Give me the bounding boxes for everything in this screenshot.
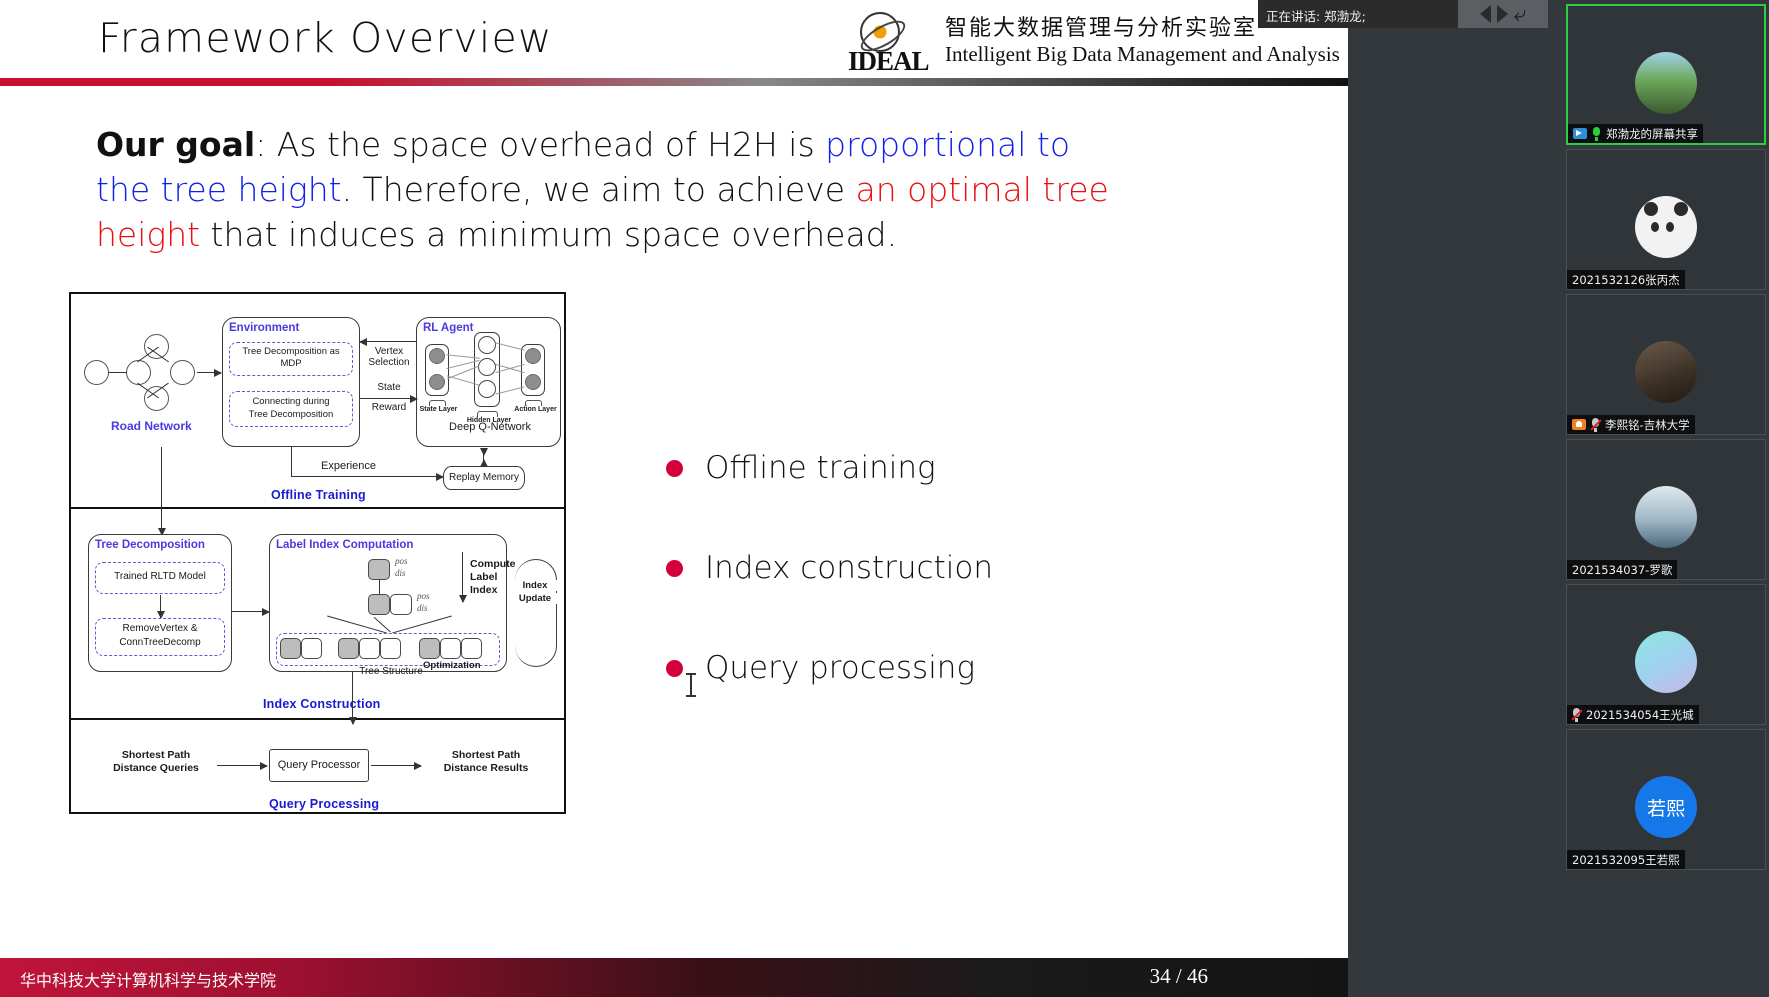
active-speaker-banner: 正在讲话: 郑渤龙; [1258, 0, 1458, 28]
state-layer-label: State Layer [416, 406, 461, 413]
compute-line1: Compute [470, 558, 516, 570]
tree-leaf [461, 638, 482, 659]
tile-name-bar: 李熙铭-吉林大学 [1567, 415, 1695, 434]
zoom-participant-panel: 正在讲话: 郑渤龙; ⤶ 郑渤龙的屏幕共享 2021532126张丙杰 [1348, 0, 1769, 997]
pos-label: pos [417, 591, 430, 601]
vertex-selection-line1: Vertex [362, 346, 416, 357]
text-cursor-icon [690, 673, 692, 697]
goal-lead: Our goal [96, 125, 255, 164]
list-item[interactable]: 2021534054王光城 [1566, 584, 1766, 725]
td-box-remove-line2: ConnTreeDecomp [95, 637, 225, 648]
tree-node [368, 594, 390, 615]
graph-node [126, 360, 151, 385]
bullet-label: Offline training [705, 450, 936, 486]
tree-leaf [280, 638, 301, 659]
rl-agent-title: RL Agent [423, 322, 473, 334]
state-label: State [362, 382, 416, 393]
index-update-loop [515, 559, 557, 667]
section-label-offline-training: Offline Training [271, 488, 366, 502]
page-title: Framework Overview [98, 14, 553, 62]
diagram-divider [71, 718, 564, 720]
footer-page-number: 34 / 46 [1150, 964, 1208, 989]
env-box-mdp-label: Tree Decomposition as MDP [233, 346, 349, 370]
td-box-model-label: Trained RLTD Model [95, 571, 225, 582]
dqn-label: Deep Q-Network [423, 421, 557, 433]
diagram-divider [71, 507, 564, 509]
graph-node [170, 360, 195, 385]
goal-part-3: that induces a minimum space overhead. [200, 215, 897, 254]
section-label-query-processing: Query Processing [269, 797, 379, 811]
avatar [1635, 52, 1697, 114]
participant-name: 2021534054王光城 [1586, 707, 1694, 723]
bullet-list: Offline training Index construction Quer… [666, 418, 993, 718]
tree-leaf [338, 638, 359, 659]
query-input-line2: Distance Queries [101, 762, 211, 774]
reward-label: Reward [362, 402, 416, 413]
index-update-line1: Index [513, 580, 557, 591]
tree-decomposition-title: Tree Decomposition [95, 539, 205, 551]
arrow-road-to-env [197, 372, 221, 373]
arrow-td-feed [161, 447, 162, 535]
bullet-label: Query processing [705, 650, 975, 686]
participant-tiles: 郑渤龙的屏幕共享 2021532126张丙杰 李熙铭-吉林大学 [1566, 4, 1766, 874]
microphone-muted-icon [1591, 418, 1600, 432]
slide-canvas: Framework Overview IDEAL 智能大数据管理与分析实验室 I… [0, 0, 1348, 958]
arrow-experience [291, 476, 443, 477]
graph-edge [108, 372, 127, 373]
replay-memory-label: Replay Memory [443, 472, 525, 483]
bullet-dot-icon [666, 460, 683, 477]
arrow-replay-dqn [483, 449, 484, 466]
compute-line3: Index [470, 584, 497, 596]
avatar [1635, 341, 1697, 403]
action-layer-label: Action Layer [513, 406, 558, 413]
bullet-label: Index construction [705, 550, 993, 586]
list-item: Index construction [666, 518, 993, 618]
goal-part-2: . Therefore, we aim to achieve [342, 170, 856, 209]
participant-name: 2021532126张丙杰 [1572, 272, 1680, 288]
list-item[interactable]: 李熙铭-吉林大学 [1566, 294, 1766, 435]
list-item: Query processing [666, 618, 993, 718]
goal-part-1: : As the space overhead of H2H is [255, 125, 825, 164]
arrow-vertex-selection [360, 341, 417, 342]
avatar: 若熙 [1635, 776, 1697, 838]
edge-line [291, 447, 292, 476]
avatar [1635, 486, 1697, 548]
bullet-dot-icon [666, 560, 683, 577]
label-index-title: Label Index Computation [276, 539, 413, 551]
neuron [429, 374, 445, 390]
tile-name-bar: 2021534054王光城 [1567, 705, 1699, 724]
screen-share-icon [1573, 128, 1587, 139]
tree-structure-label: Tree Structure [311, 666, 471, 677]
graph-node [84, 360, 109, 385]
avatar [1635, 631, 1697, 693]
tile-name-bar: 2021534037-罗歌 [1567, 560, 1677, 579]
environment-title: Environment [229, 322, 299, 334]
title-divider [0, 78, 1348, 86]
participant-name: 李熙铭-吉林大学 [1605, 417, 1690, 433]
td-box-remove-line1: RemoveVertex & [95, 623, 225, 634]
neuron [478, 336, 496, 354]
panel-controls[interactable]: ⤶ [1458, 0, 1548, 28]
tile-name-bar: 郑渤龙的屏幕共享 [1568, 124, 1703, 143]
arrow-compute-label-index [462, 552, 463, 602]
panda-avatar-icon [1635, 196, 1697, 258]
list-item[interactable]: 2021534037-罗歌 [1566, 439, 1766, 580]
road-network-label: Road Network [111, 419, 192, 433]
arrow-index-to-query [352, 672, 353, 724]
participant-name: 2021534037-罗歌 [1572, 562, 1672, 578]
microphone-muted-icon [1572, 708, 1581, 722]
neuron [478, 380, 496, 398]
environment-panel [222, 317, 360, 447]
logo-english-name: Intelligent Big Data Management and Anal… [945, 42, 1340, 67]
slide-footer: 华中科技大学计算机科学与技术学院 34 / 46 [0, 958, 1348, 997]
list-item: Offline training [666, 418, 993, 518]
arrow-td-to-lic [232, 611, 269, 612]
arrow-td-internal [160, 595, 161, 618]
footer-org: 华中科技大学计算机科学与技术学院 [20, 967, 276, 991]
env-box-connect-line1: Connecting during [233, 396, 349, 407]
query-processor-label: Query Processor [269, 759, 369, 771]
section-label-index-construction: Index Construction [263, 697, 381, 711]
dis-label: dis [395, 568, 406, 578]
pos-label: pos [395, 556, 408, 566]
neuron [478, 358, 496, 376]
chevron-left-icon[interactable] [1480, 5, 1491, 23]
list-item[interactable]: 郑渤龙的屏幕共享 [1566, 4, 1766, 145]
screen-root: Framework Overview IDEAL 智能大数据管理与分析实验室 I… [0, 0, 1769, 997]
env-box-connect-line2: Tree Decomposition [233, 409, 349, 420]
arrow-query-in [217, 765, 267, 766]
logo-chinese-name: 智能大数据管理与分析实验室 [945, 10, 1257, 42]
tree-node [368, 559, 390, 580]
bullet-dot-icon [666, 660, 683, 677]
list-item[interactable]: 2021532126张丙杰 [1566, 149, 1766, 290]
participant-badge-icon [1572, 419, 1586, 430]
avatar [1635, 196, 1697, 258]
index-update-line2: Update [513, 593, 557, 604]
query-input-line1: Shortest Path [101, 749, 211, 761]
neuron [429, 348, 445, 364]
tree-leaf [301, 638, 322, 659]
tile-name-bar: 2021532095王若熙 [1567, 850, 1685, 869]
participant-name: 2021532095王若熙 [1572, 852, 1680, 868]
chevron-right-icon[interactable] [1497, 5, 1508, 23]
vertex-selection-line2: Selection [362, 357, 416, 368]
undo-arrow-icon[interactable]: ⤶ [1514, 3, 1526, 25]
participant-name: 郑渤龙的屏幕共享 [1606, 126, 1698, 142]
compute-line2: Label [470, 571, 497, 583]
query-output-line1: Shortest Path [426, 749, 546, 761]
experience-label: Experience [321, 460, 376, 472]
framework-diagram: Offline Training Road Network Environmen… [69, 292, 566, 814]
neuron [525, 374, 541, 390]
neuron [525, 348, 541, 364]
tree-leaf [419, 638, 440, 659]
list-item[interactable]: 若熙 2021532095王若熙 [1566, 729, 1766, 870]
tree-leaf [440, 638, 461, 659]
tree-edge [379, 580, 380, 594]
microphone-icon [1592, 127, 1601, 141]
tree-leaf [359, 638, 380, 659]
shared-screen-slide: Framework Overview IDEAL 智能大数据管理与分析实验室 I… [0, 0, 1348, 997]
dis-label: dis [417, 603, 428, 613]
arrow-query-out [371, 765, 421, 766]
tree-node [390, 594, 412, 615]
avatar-initials: 若熙 [1647, 794, 1685, 821]
arrow-state-reward [360, 398, 417, 399]
tile-name-bar: 2021532126张丙杰 [1567, 270, 1685, 289]
goal-paragraph: Our goal: As the space overhead of H2H i… [96, 122, 1126, 257]
logo-wordmark: IDEAL [848, 46, 929, 77]
tree-leaf [380, 638, 401, 659]
query-output-line2: Distance Results [426, 762, 546, 774]
